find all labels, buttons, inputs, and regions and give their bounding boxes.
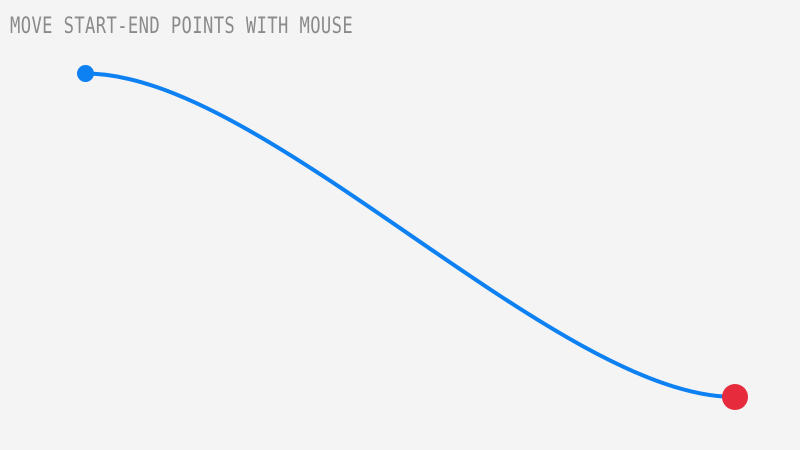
page-title: MOVE START-END POINTS WITH MOUSE [10, 14, 353, 40]
start-point-handle[interactable] [77, 65, 94, 82]
curve-layer [0, 0, 800, 450]
bezier-curve-path [86, 74, 736, 398]
bezier-editor-canvas[interactable]: MOVE START-END POINTS WITH MOUSE [0, 0, 800, 450]
end-point-handle[interactable] [722, 384, 748, 410]
